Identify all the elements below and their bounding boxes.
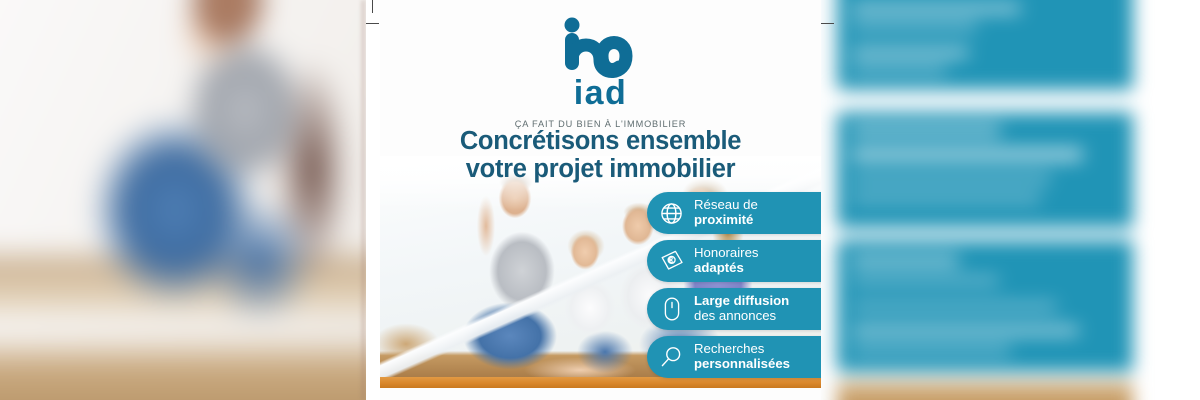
badge-line-2: des annonces <box>694 309 789 323</box>
right-page-sand-strip <box>837 382 1133 400</box>
right-page-block-1 <box>837 0 1133 90</box>
badge-line-1: Réseau de <box>694 198 758 212</box>
brand-wordmark: iad <box>380 76 821 110</box>
flyer-artboard: iad ÇA FAIT DU BIEN À L'IMMOBILIER Concr… <box>380 0 821 400</box>
crop-mark-top-left-vertical <box>372 0 373 13</box>
badge-reseau-de-proximite[interactable]: Réseau de proximité <box>647 192 821 234</box>
right-page-left-edge <box>821 0 827 400</box>
badge-line-1: Large diffusion <box>694 294 789 308</box>
headline-line-1: Concrétisons ensemble <box>380 128 821 156</box>
flyer-mockup-stage: iad ÇA FAIT DU BIEN À L'IMMOBILIER Concr… <box>0 0 1200 400</box>
badge-line-2: adaptés <box>694 261 759 275</box>
computer-mouse-icon <box>658 296 685 323</box>
badge-line-2: personnalisées <box>694 357 790 371</box>
right-blurred-page-image <box>821 0 1200 400</box>
iad-infinity-logo-icon <box>553 16 649 80</box>
badge-honoraires-adaptes[interactable]: Honoraires adaptés <box>647 240 821 282</box>
right-page-block-2 <box>837 112 1133 228</box>
badge-text: Réseau de proximité <box>694 198 758 227</box>
feature-badge-list: Réseau de proximité <box>647 192 821 384</box>
badge-text: Recherches personnalisées <box>694 342 790 371</box>
badge-text: Honoraires adaptés <box>694 246 759 275</box>
badge-line-2: proximité <box>694 213 758 227</box>
center-flyer-panel: iad ÇA FAIT DU BIEN À L'IMMOBILIER Concr… <box>366 0 821 400</box>
badge-text: Large diffusion des annonces <box>694 294 789 323</box>
crop-mark-top-left-horizontal <box>366 23 379 24</box>
right-page-block-3 <box>837 240 1133 372</box>
crop-mark-right-panel-horizontal <box>821 23 834 24</box>
headline: Concrétisons ensemble votre projet immob… <box>380 128 821 183</box>
badge-recherches-personnalisees[interactable]: Recherches personnalisées <box>647 336 821 378</box>
headline-line-2: votre projet immobilier <box>380 156 821 184</box>
left-blurred-photo-image <box>0 0 366 400</box>
globe-icon <box>658 200 685 227</box>
left-blurred-photo-panel <box>0 0 366 400</box>
banknote-euro-icon <box>658 248 685 275</box>
badge-line-1: Recherches <box>694 342 790 356</box>
right-blurred-page-panel <box>821 0 1200 400</box>
magnifier-icon <box>658 344 685 371</box>
badge-large-diffusion[interactable]: Large diffusion des annonces <box>647 288 821 330</box>
badge-line-1: Honoraires <box>694 246 759 260</box>
brand-logo-block: iad ÇA FAIT DU BIEN À L'IMMOBILIER <box>380 16 821 129</box>
